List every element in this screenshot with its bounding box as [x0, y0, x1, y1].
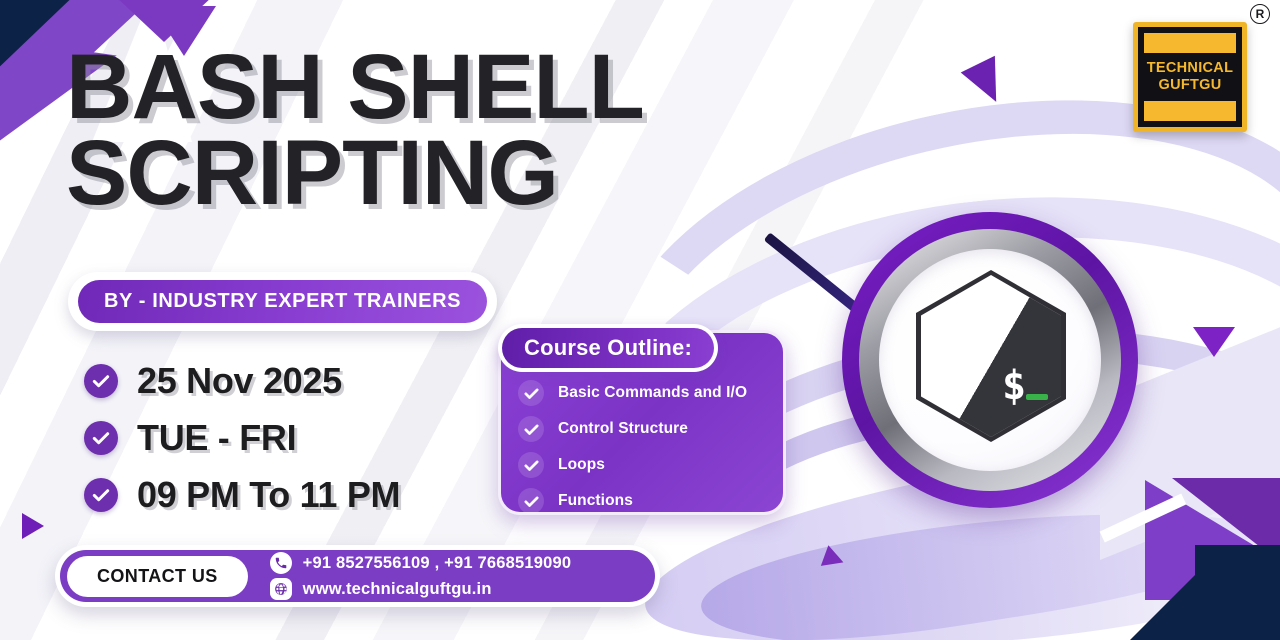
outline-item-label: Functions [558, 492, 633, 510]
byline-label: BY - INDUSTRY EXPERT TRAINERS [78, 280, 487, 323]
check-icon [518, 488, 544, 514]
phone-icon [270, 552, 292, 574]
contact-us-button[interactable]: CONTACT US [67, 556, 248, 597]
brand-logo: TECHNICAL GUFTGU [1133, 22, 1247, 132]
logo-line-2: GUFTGU [1144, 77, 1236, 94]
list-item: 09 PM To 11 PM [84, 474, 400, 516]
byline-badge: BY - INDUSTRY EXPERT TRAINERS [68, 272, 497, 331]
contact-website-row[interactable]: www.technicalguftgu.in [270, 578, 572, 600]
logo-wordmark: TECHNICAL GUFTGU [1144, 60, 1236, 94]
corner-navy-block [1195, 545, 1280, 640]
list-item: Functions [518, 488, 747, 514]
promo-banner: $ BASH SHELL SCRIPTING BY - INDUSTRY EXP… [0, 0, 1280, 640]
list-item: 25 Nov 2025 [84, 360, 400, 402]
outline-item-label: Basic Commands and I/O [558, 384, 747, 402]
cursor-underscore-icon [1026, 394, 1048, 400]
check-icon [518, 452, 544, 478]
logo-bar-bottom [1144, 101, 1236, 121]
schedule-time: 09 PM To 11 PM [137, 474, 400, 516]
check-circle-icon [84, 421, 118, 455]
bash-logo-magnifier: $ [842, 212, 1138, 508]
dollar-prompt-icon: $ [1002, 366, 1026, 406]
title-line-2: SCRIPTING [66, 130, 826, 216]
contact-bar-inner: CONTACT US +91 8527556109 , +91 76685190… [60, 550, 655, 602]
outline-item-label: Loops [558, 456, 605, 474]
contact-details: +91 8527556109 , +91 7668519090 www.tech… [270, 552, 572, 600]
contact-website: www.technicalguftgu.in [303, 580, 492, 599]
check-circle-icon [84, 478, 118, 512]
check-circle-icon [84, 364, 118, 398]
logo-line-1: TECHNICAL [1144, 60, 1236, 77]
list-item: Loops [518, 452, 747, 478]
schedule-list: 25 Nov 2025 TUE - FRI 09 PM To 11 PM [84, 360, 400, 531]
contact-phone-number: +91 8527556109 , +91 7668519090 [303, 554, 572, 573]
bash-hexagon-icon: $ [916, 270, 1066, 442]
schedule-days: TUE - FRI [137, 417, 296, 459]
registered-trademark-icon: R [1250, 4, 1270, 24]
course-outline-heading: Course Outline: [502, 328, 714, 368]
globe-icon [270, 578, 292, 600]
left-mid-triangle-icon [22, 513, 44, 539]
check-icon [518, 380, 544, 406]
course-outline-heading-badge: Course Outline: [498, 324, 718, 372]
outline-item-label: Control Structure [558, 420, 688, 438]
right-mid-triangle-icon [1193, 327, 1235, 357]
logo-bar-top [1144, 33, 1236, 53]
course-outline-list: Basic Commands and I/O Control Structure… [518, 380, 747, 524]
list-item: TUE - FRI [84, 417, 400, 459]
contact-phone-row[interactable]: +91 8527556109 , +91 7668519090 [270, 552, 572, 574]
schedule-date: 25 Nov 2025 [137, 360, 342, 402]
list-item: Basic Commands and I/O [518, 380, 747, 406]
list-item: Control Structure [518, 416, 747, 442]
page-title: BASH SHELL SCRIPTING [66, 44, 826, 217]
check-icon [518, 416, 544, 442]
contact-bar: CONTACT US +91 8527556109 , +91 76685190… [55, 545, 660, 607]
